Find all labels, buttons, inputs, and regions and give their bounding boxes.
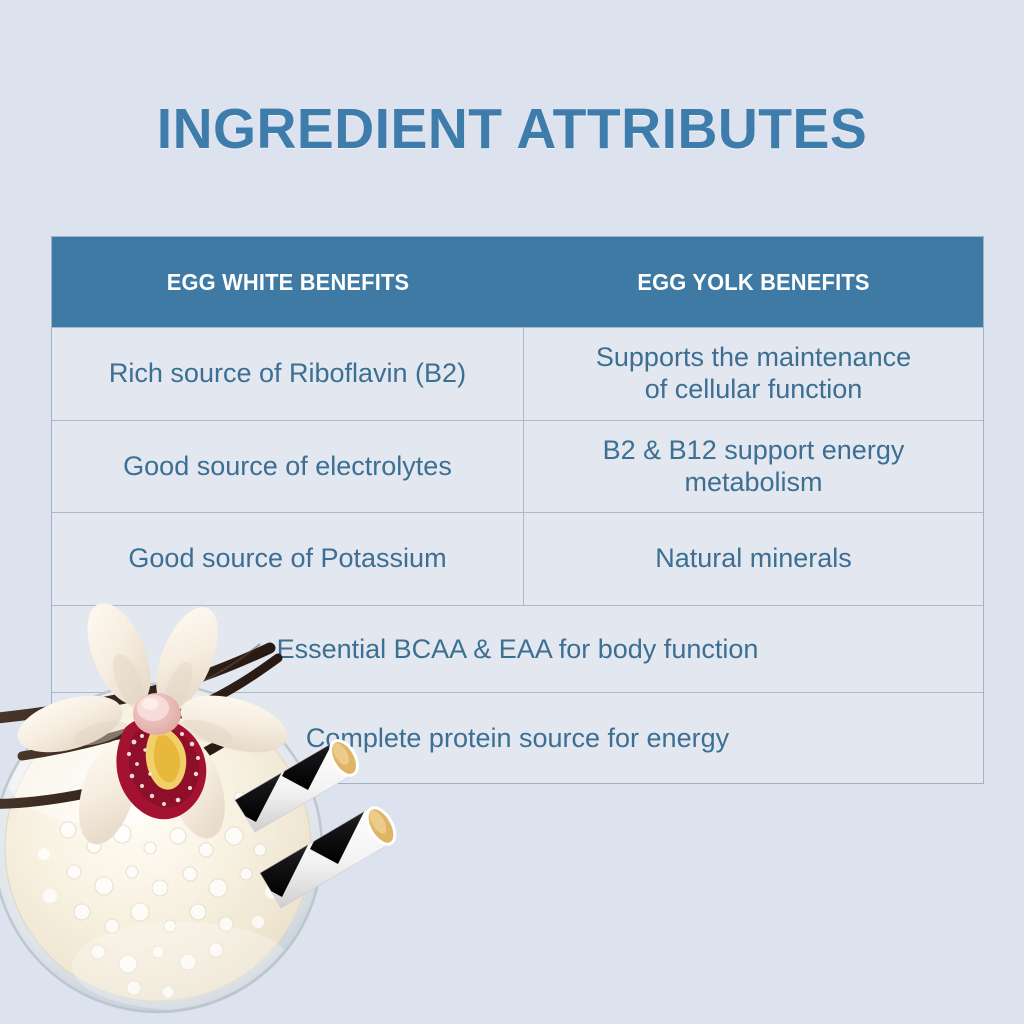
benefits-table: EGG WHITE BENEFITS EGG YOLK BENEFITS Ric… (51, 236, 984, 784)
table-row: Rich source of Riboflavin (B2) Supports … (52, 327, 983, 420)
cell-line: metabolism (603, 467, 905, 499)
cell-egg-white-benefit-2: Good source of electrolytes (52, 421, 524, 512)
table-row: Good source of Potassium Natural mineral… (52, 512, 983, 605)
page-title: INGREDIENT ATTRIBUTES (15, 96, 1008, 162)
cell-line: B2 & B12 support energy (603, 435, 905, 467)
cell-line: Supports the maintenance (596, 342, 911, 374)
table-header-row: EGG WHITE BENEFITS EGG YOLK BENEFITS (52, 237, 983, 327)
cell-egg-white-benefit-3: Good source of Potassium (52, 513, 524, 605)
cell-line: of cellular function (596, 374, 911, 406)
cell-egg-yolk-benefit-2: B2 & B12 support energy metabolism (524, 421, 983, 512)
ingredient-attributes-infographic: INGREDIENT ATTRIBUTES EGG WHITE BENEFITS… (0, 0, 1024, 1024)
column-header-egg-yolk: EGG YOLK BENEFITS (535, 237, 971, 327)
cell-egg-yolk-benefit-1: Supports the maintenance of cellular fun… (524, 328, 983, 420)
cell-egg-yolk-benefit-3: Natural minerals (524, 513, 983, 605)
column-header-egg-white: EGG WHITE BENEFITS (64, 237, 512, 327)
table-row: Good source of electrolytes B2 & B12 sup… (52, 420, 983, 512)
cell-egg-white-benefit-1: Rich source of Riboflavin (B2) (52, 328, 524, 420)
table-row-shared-benefit-1: Essential BCAA & EAA for body function (52, 605, 983, 692)
table-row-shared-benefit-2: Complete protein source for energy (52, 692, 983, 783)
